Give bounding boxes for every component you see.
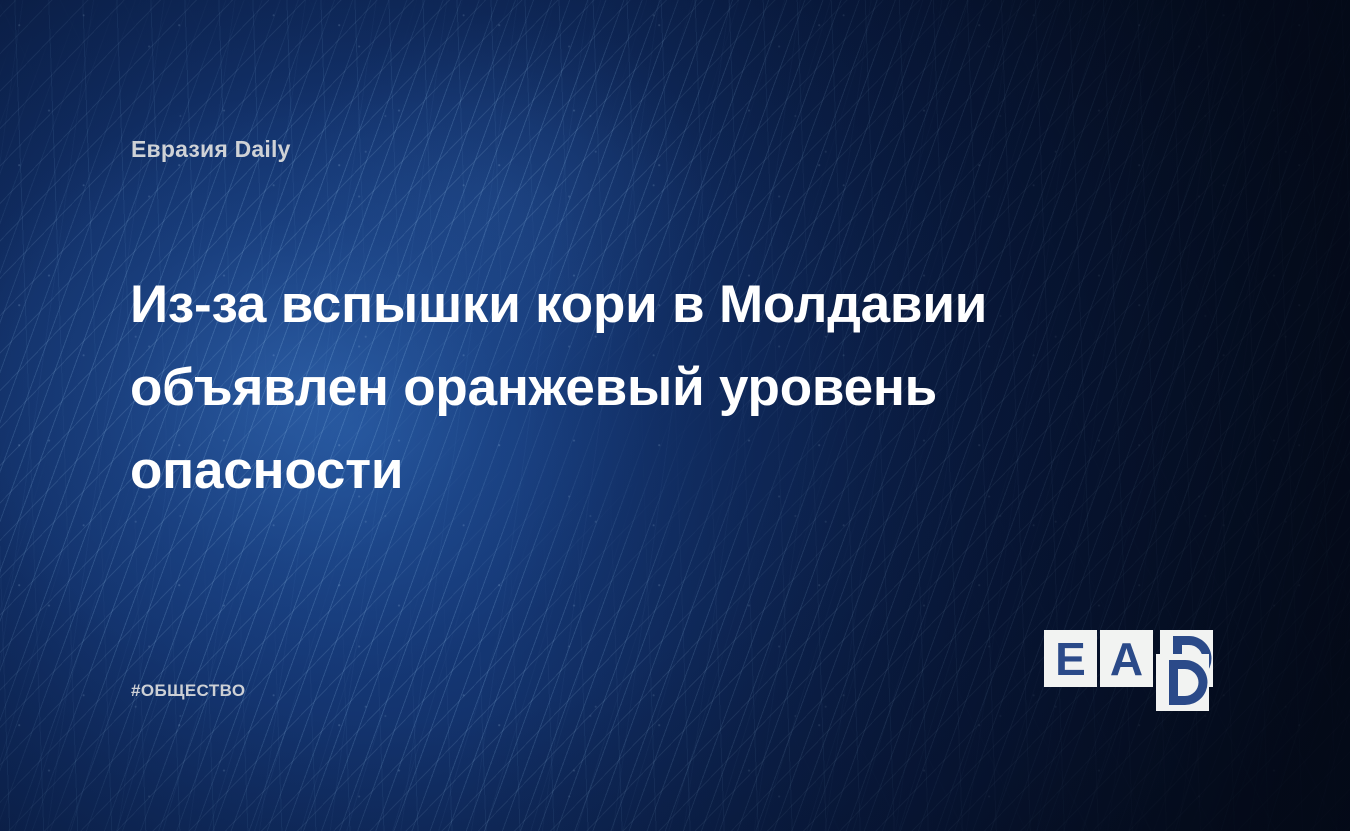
news-share-card: Евразия Daily Из-за вспышки кори в Молда… (0, 0, 1350, 831)
logo-tile-d-stack (1156, 630, 1213, 711)
brand-title: Евразия Daily (131, 136, 291, 163)
logo-tile-e: E (1044, 630, 1097, 687)
eadaily-logo: E A (1044, 630, 1213, 711)
card-content: Евразия Daily Из-за вспышки кори в Молда… (0, 0, 1350, 831)
category-tag: #ОБЩЕСТВО (131, 681, 245, 701)
logo-tile-d-bottom (1156, 654, 1209, 711)
logo-tile-a: A (1100, 630, 1153, 687)
headline: Из-за вспышки кори в Молдавии объявлен о… (130, 263, 1040, 512)
